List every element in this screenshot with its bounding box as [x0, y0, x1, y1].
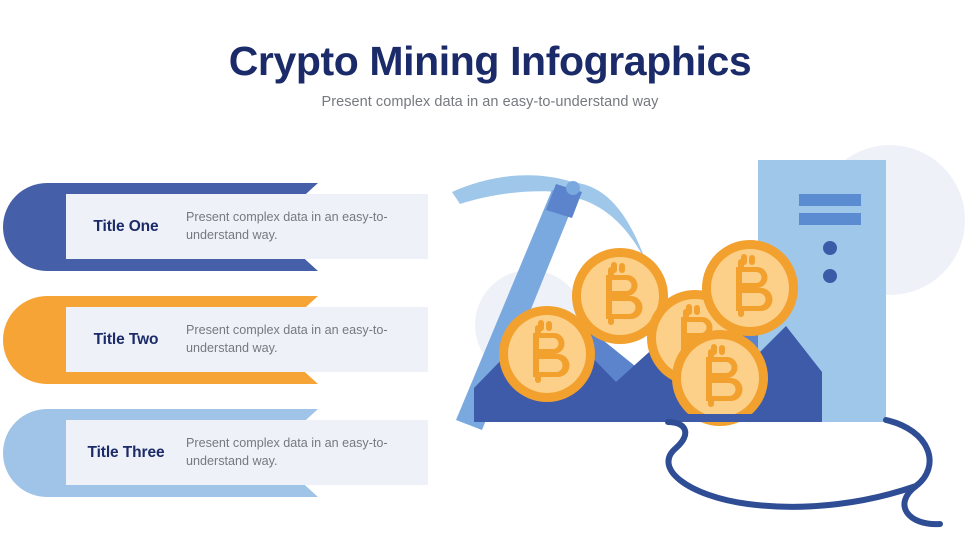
card-description: Present complex data in an easy-to-under… — [186, 322, 428, 358]
card-content: Title Two Present complex data in an eas… — [66, 307, 428, 372]
tower-slot-bar-top — [799, 194, 861, 206]
card-content: Title One Present complex data in an eas… — [66, 194, 428, 259]
illustration-canvas — [430, 130, 980, 530]
tower-indicator-dot-bottom — [823, 269, 837, 283]
bitcoin-coin — [672, 330, 768, 426]
list-item[interactable]: Title Three Present complex data in an e… — [0, 398, 470, 508]
card-title: Title Two — [66, 331, 186, 349]
card-title: Title Three — [66, 444, 186, 462]
pickaxe-pin — [566, 181, 580, 195]
power-cable-left — [668, 422, 916, 507]
mountain-base-strip — [474, 414, 822, 422]
card-title: Title One — [66, 218, 186, 236]
list-item[interactable]: Title One Present complex data in an eas… — [0, 172, 470, 282]
slide-canvas: Crypto Mining Infographics Present compl… — [0, 0, 980, 551]
list-item[interactable]: Title Two Present complex data in an eas… — [0, 285, 470, 395]
tower-indicator-dot-top — [823, 241, 837, 255]
card-content: Title Three Present complex data in an e… — [66, 420, 428, 485]
card-list: Title One Present complex data in an eas… — [0, 0, 470, 551]
tower-slot-bar-bottom — [799, 213, 861, 225]
bitcoin-coin — [702, 240, 798, 336]
power-cable-right — [886, 420, 940, 524]
card-description: Present complex data in an easy-to-under… — [186, 209, 428, 245]
crypto-mining-illustration — [430, 130, 980, 530]
card-description: Present complex data in an easy-to-under… — [186, 435, 428, 471]
